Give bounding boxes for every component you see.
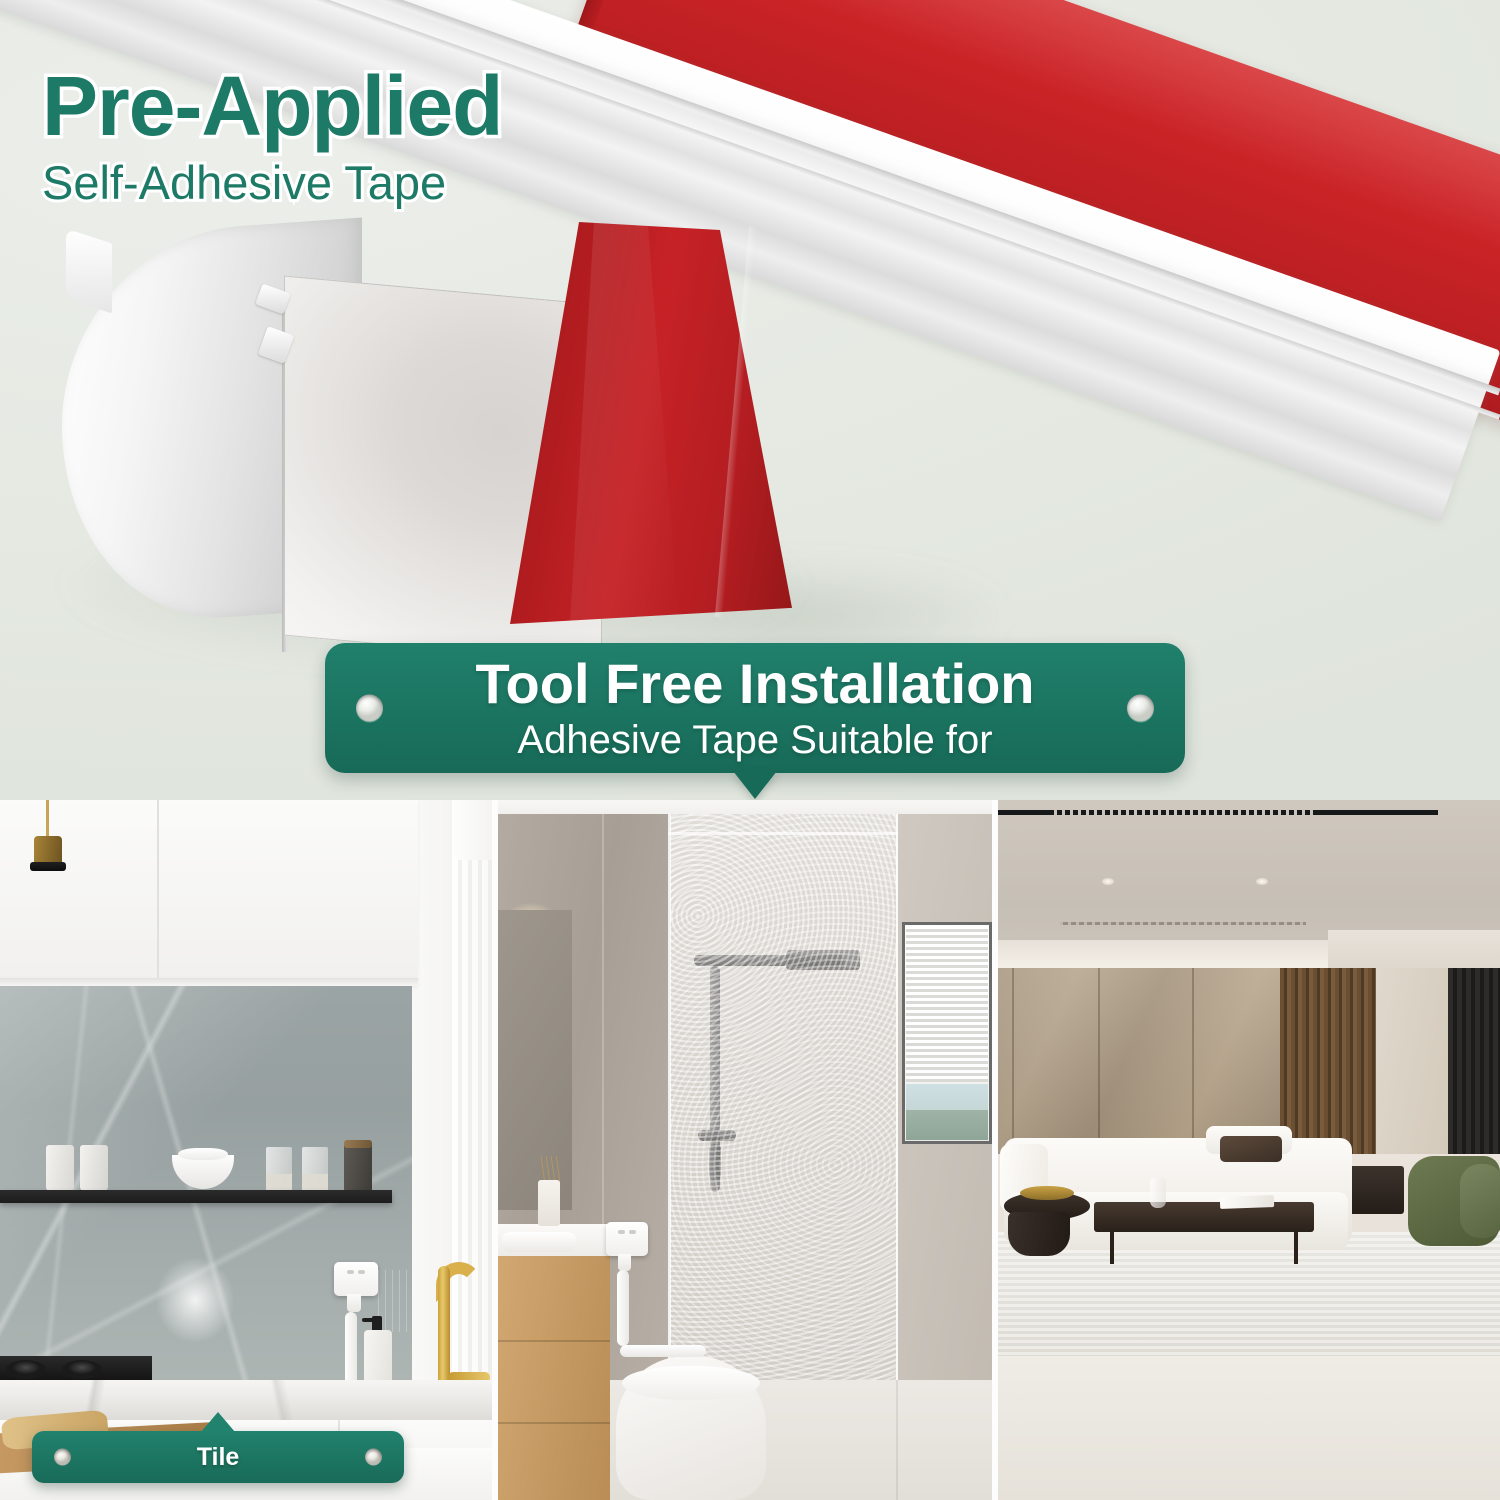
livingroom-round-side-table-base xyxy=(1008,1212,1070,1256)
kitchen-glass-jar xyxy=(302,1147,328,1192)
kitchen-upper-cabinets xyxy=(0,800,418,986)
bathroom-mirror xyxy=(498,910,572,1210)
bathroom-wood-vanity xyxy=(498,1256,610,1500)
kitchen-cabinet-lip xyxy=(0,978,418,986)
kitchen-gold-faucet xyxy=(438,1266,450,1388)
kitchen-canister-lid xyxy=(344,1140,372,1148)
outlet-slot-icon xyxy=(618,1230,625,1234)
kitchen-floating-shelf xyxy=(0,1190,392,1203)
kitchen-wall-outlet xyxy=(334,1262,378,1296)
screw-hole-icon-right xyxy=(1127,695,1154,722)
caption-plaque-tile: Tile xyxy=(32,1431,404,1483)
wood-slat-accent-wall xyxy=(1280,968,1376,1154)
livingroom-dark-door xyxy=(1448,968,1500,1154)
ceiling-spotlight-icon xyxy=(1256,878,1268,885)
hero-product-section: Pre-Applied Self-Adhesive Tape Tool Free… xyxy=(0,0,1500,800)
bathroom-sink xyxy=(502,1232,576,1252)
kitchen-glass-jar xyxy=(266,1147,292,1192)
outlet-slot-icon xyxy=(347,1270,354,1274)
plaque-pointer-icon xyxy=(201,1412,235,1432)
outlet-slot-icon xyxy=(358,1270,365,1274)
kitchen-wire-rack xyxy=(378,1270,412,1332)
bathroom-installed-raceway-vertical xyxy=(617,1270,629,1346)
raceway-nose-lip xyxy=(66,229,112,314)
hero-subheadline: Self-Adhesive Tape xyxy=(42,157,502,209)
livingroom-open-book xyxy=(1220,1195,1274,1209)
badge-title: Tool Free Installation xyxy=(475,656,1034,712)
livingroom-green-armchair-second xyxy=(1460,1164,1500,1238)
ceiling-recess-line xyxy=(1060,922,1306,925)
bathroom-plug xyxy=(618,1254,631,1271)
kitchen-pendant-shade xyxy=(30,862,66,871)
scene-panel-tile: Tile xyxy=(0,800,492,1500)
glass-frame-left xyxy=(668,814,671,1380)
bathroom-toilet-lid xyxy=(622,1366,760,1400)
coffee-table-leg xyxy=(1294,1230,1298,1264)
bathroom-window-landscape xyxy=(906,1110,988,1140)
bathroom-installed-raceway-horizontal xyxy=(620,1345,706,1357)
kitchen-bowl-rim xyxy=(178,1148,228,1160)
coffee-table-leg xyxy=(1110,1230,1114,1264)
bathroom-wall-outlet xyxy=(606,1222,648,1256)
livingroom-glass-carafe xyxy=(1150,1178,1166,1208)
screw-hole-icon-right xyxy=(365,1449,382,1466)
vanity-drawer-seam xyxy=(498,1422,610,1424)
glass-frame-top xyxy=(668,832,900,835)
scene-panel-wood-wall: Wood Wall xyxy=(998,800,1500,1500)
kitchen-pendant-cord xyxy=(46,800,49,838)
kitchen-window-blinds xyxy=(452,860,492,1390)
livingroom-side-console xyxy=(1346,1166,1404,1214)
livingroom-floor xyxy=(998,1356,1500,1500)
cooktop-burner-icon xyxy=(62,1360,102,1379)
badge-subtitle: Adhesive Tape Suitable for xyxy=(517,720,992,760)
livingroom-side-wall xyxy=(1376,968,1448,1154)
bathroom-floor-seam xyxy=(896,1380,898,1500)
product-infographic: Pre-Applied Self-Adhesive Tape Tool Free… xyxy=(0,0,1500,1500)
outlet-slot-icon xyxy=(629,1230,636,1234)
bathroom-textured-glass-panel xyxy=(670,814,900,1380)
kitchen-light-glow xyxy=(140,1240,250,1360)
rug-light-gradient xyxy=(998,1232,1500,1370)
cooktop-burner-icon xyxy=(6,1360,46,1379)
kitchen-plug xyxy=(347,1294,361,1312)
hero-heading-block: Pre-Applied Self-Adhesive Tape xyxy=(42,62,502,209)
wall-panel-seam xyxy=(1098,968,1100,1154)
scene-panel-glass: Glass xyxy=(498,800,992,1500)
hero-headline: Pre-Applied xyxy=(42,62,502,151)
caption-label: Tile xyxy=(197,1443,240,1472)
kitchen-ceramic-jar xyxy=(80,1145,108,1191)
badge-pointer-icon xyxy=(733,771,777,799)
livingroom-coffee-table xyxy=(1094,1202,1314,1232)
kitchen-cabinet-seam xyxy=(157,800,159,986)
tool-free-installation-badge: Tool Free Installation Adhesive Tape Sui… xyxy=(325,643,1185,773)
vanity-drawer-seam xyxy=(498,1340,610,1342)
wall-panel-seam xyxy=(1192,968,1194,1154)
bathroom-window-blinds xyxy=(906,926,988,1082)
ceiling-track-light-dots xyxy=(1054,810,1314,815)
kitchen-installed-raceway-vertical xyxy=(345,1312,357,1388)
livingroom-brown-pillow xyxy=(1220,1136,1282,1162)
kitchen-canister xyxy=(344,1143,372,1192)
surface-scenes-row: Tile xyxy=(0,800,1500,1500)
wall-panel-seam xyxy=(1012,968,1014,1154)
bathroom-diffuser-bottle xyxy=(538,1180,560,1226)
livingroom-brass-tray xyxy=(1020,1186,1074,1200)
ceiling-spotlight-icon xyxy=(1102,878,1114,885)
screw-hole-icon-left xyxy=(54,1449,71,1466)
kitchen-ceramic-jar xyxy=(46,1145,74,1191)
screw-hole-icon-left xyxy=(356,695,383,722)
